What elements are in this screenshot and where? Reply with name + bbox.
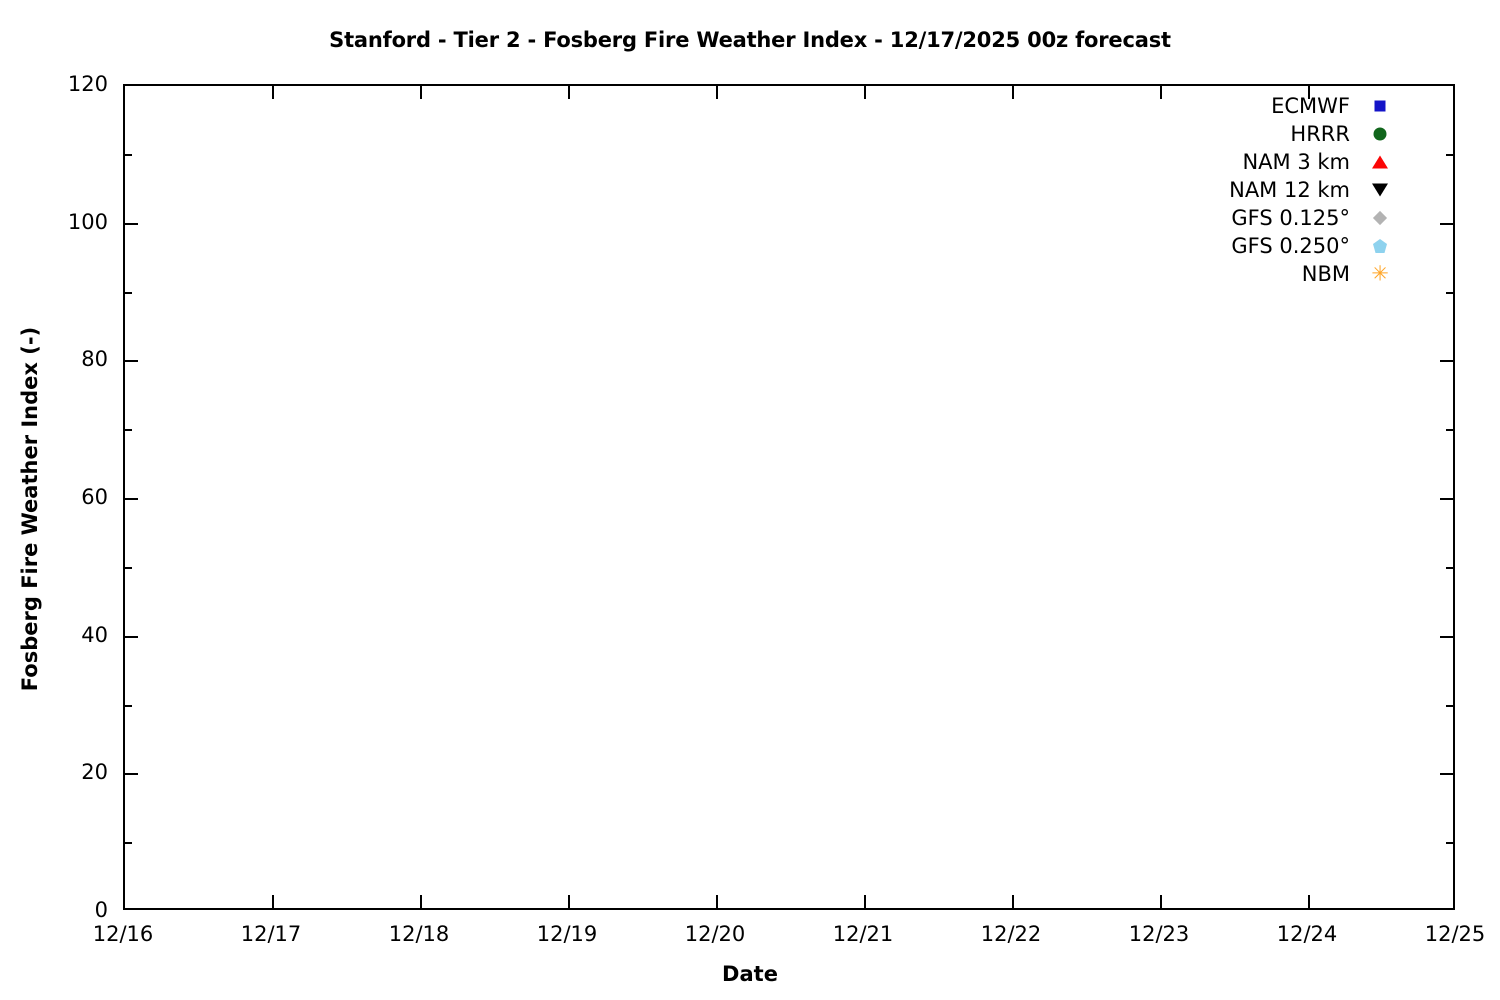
legend: ECMWFHRRRNAM 3 kmNAM 12 kmGFS 0.125°GFS …	[1150, 92, 1400, 288]
legend-label: GFS 0.125°	[1231, 206, 1350, 230]
y-tick-minor-right	[1446, 154, 1453, 156]
legend-label: HRRR	[1290, 122, 1350, 146]
legend-label: GFS 0.250°	[1231, 234, 1350, 258]
y-tick-major	[125, 360, 138, 362]
y-tick-minor	[125, 154, 132, 156]
x-tick-major-top	[420, 86, 422, 99]
y-tick-minor-right	[1446, 842, 1453, 844]
triangle-up-marker	[1372, 156, 1388, 169]
x-tick-major-top	[568, 86, 570, 99]
legend-label: NAM 12 km	[1229, 178, 1350, 202]
x-tick-label: 12/20	[655, 922, 775, 946]
y-tick-label: 0	[28, 898, 108, 922]
x-tick-major	[1308, 895, 1310, 908]
x-tick-major	[1160, 895, 1162, 908]
legend-label: NAM 3 km	[1242, 150, 1350, 174]
x-tick-major-top	[864, 86, 866, 99]
x-axis-title: Date	[0, 962, 1500, 986]
x-tick-major	[1012, 895, 1014, 908]
x-tick-label: 12/22	[951, 922, 1071, 946]
page-title: Stanford - Tier 2 - Fosberg Fire Weather…	[0, 28, 1500, 52]
legend-marker-asterisk: ✳	[1360, 263, 1400, 285]
y-tick-major	[125, 223, 138, 225]
y-tick-major	[125, 773, 138, 775]
x-tick-label: 12/24	[1247, 922, 1367, 946]
diamond-marker	[1373, 211, 1387, 225]
x-tick-label: 12/23	[1099, 922, 1219, 946]
y-tick-minor	[125, 705, 132, 707]
y-tick-minor	[125, 842, 132, 844]
y-tick-major-right	[1440, 636, 1453, 638]
legend-item-hrrr[interactable]: HRRR	[1150, 120, 1400, 148]
x-tick-major-top	[272, 86, 274, 99]
legend-marker-diamond	[1360, 207, 1400, 229]
square-marker	[1375, 101, 1386, 112]
chart-page: Stanford - Tier 2 - Fosberg Fire Weather…	[0, 0, 1500, 1000]
legend-label: NBM	[1302, 262, 1350, 286]
x-tick-label: 12/19	[507, 922, 627, 946]
circle-marker	[1374, 128, 1387, 141]
x-tick-label: 12/16	[63, 922, 183, 946]
x-tick-label: 12/21	[803, 922, 923, 946]
y-tick-minor-right	[1446, 429, 1453, 431]
y-tick-major-right	[1440, 498, 1453, 500]
y-tick-major	[125, 498, 138, 500]
x-tick-major	[716, 895, 718, 908]
x-tick-major	[420, 895, 422, 908]
legend-item-gfs-0-250[interactable]: GFS 0.250°	[1150, 232, 1400, 260]
y-axis-title: Fosberg Fire Weather Index (-)	[18, 189, 42, 829]
triangle-down-marker	[1372, 184, 1388, 197]
y-tick-major	[125, 636, 138, 638]
asterisk-marker: ✳	[1371, 264, 1389, 285]
x-tick-label: 12/25	[1395, 922, 1500, 946]
y-tick-minor	[125, 429, 132, 431]
y-tick-major-right	[1440, 223, 1453, 225]
legend-item-nam-12-km[interactable]: NAM 12 km	[1150, 176, 1400, 204]
x-tick-label: 12/18	[359, 922, 479, 946]
y-tick-minor-right	[1446, 292, 1453, 294]
y-tick-label: 120	[28, 72, 108, 96]
x-tick-major	[568, 895, 570, 908]
y-tick-minor-right	[1446, 567, 1453, 569]
x-tick-major	[272, 895, 274, 908]
y-tick-minor-right	[1446, 705, 1453, 707]
legend-label: ECMWF	[1271, 94, 1350, 118]
x-tick-major-top	[1012, 86, 1014, 99]
legend-marker-pentagon	[1360, 235, 1400, 257]
legend-marker-triangle-down	[1360, 179, 1400, 201]
legend-marker-circle	[1360, 123, 1400, 145]
x-tick-major-top	[716, 86, 718, 99]
x-tick-major	[864, 895, 866, 908]
y-tick-major-right	[1440, 360, 1453, 362]
pentagon-marker	[1373, 239, 1387, 253]
y-tick-major-right	[1440, 773, 1453, 775]
legend-item-gfs-0-125[interactable]: GFS 0.125°	[1150, 204, 1400, 232]
legend-marker-triangle-up	[1360, 151, 1400, 173]
y-tick-minor	[125, 567, 132, 569]
x-tick-label: 12/17	[211, 922, 331, 946]
legend-item-ecmwf[interactable]: ECMWF	[1150, 92, 1400, 120]
legend-marker-square	[1360, 95, 1400, 117]
legend-item-nbm[interactable]: NBM✳	[1150, 260, 1400, 288]
legend-item-nam-3-km[interactable]: NAM 3 km	[1150, 148, 1400, 176]
y-tick-minor	[125, 292, 132, 294]
